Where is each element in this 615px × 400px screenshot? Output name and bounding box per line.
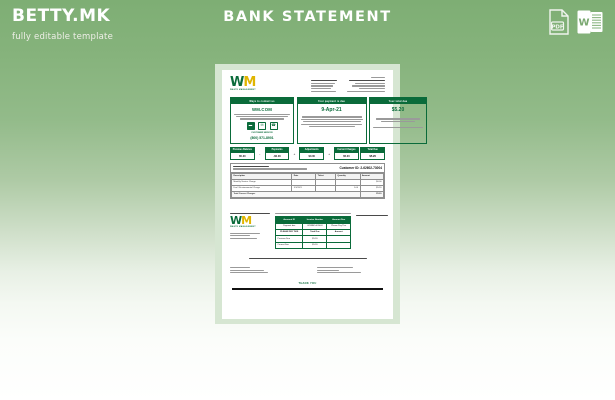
payment-due-box: Your payment is due 9-Apr-21: [297, 97, 367, 143]
summary-operator: -: [256, 147, 263, 160]
stub-header-row: Account ID Invoice Number Amount Due: [276, 216, 351, 223]
address-block-left: [230, 265, 299, 274]
charges-table: Description Date Ticket Quantity Amount …: [231, 173, 384, 198]
meta-row: [311, 88, 385, 89]
document-preview-frame[interactable]: WM WASTE MANAGEMENT Ways to contact us: [215, 64, 400, 324]
invoice-page: WM WASTE MANAGEMENT Ways to contact us: [222, 70, 393, 319]
summary-value: -$0.00: [266, 153, 289, 159]
meta-row: [311, 91, 385, 92]
bottom-rule: [232, 288, 383, 289]
summary-cell-current-charges: Current Charges $5.20: [334, 147, 359, 160]
payment-due-date: 9-Apr-21: [301, 107, 363, 114]
brand-tagline: fully editable template: [12, 32, 113, 42]
summary-cell-adjustments: Adjustments $0.00: [299, 147, 324, 160]
thank-you-text: THANK YOU: [230, 282, 385, 286]
stub-logo-block: WM WASTE MANAGEMENT: [230, 213, 270, 241]
svg-text:PDF: PDF: [551, 24, 563, 30]
address-block-right: [317, 265, 386, 274]
summary-operator: +: [291, 147, 298, 160]
ways-to-contact-box: Ways to contact us WM.COM ▬ ✉ ☎: [230, 97, 294, 143]
wm-logo-subtitle: WASTE MANAGEMENT: [230, 89, 256, 92]
page-title: BANK STATEMENT: [0, 9, 615, 25]
stub-cell: [327, 242, 351, 248]
summary-cell-payments: Payments -$0.00: [265, 147, 290, 160]
summary-cell-total-due: Total Due $5.20: [360, 147, 385, 160]
meta-row: [311, 83, 385, 84]
total-due-box: Your total due $5.20: [369, 97, 427, 143]
info-box-row: Ways to contact us WM.COM ▬ ✉ ☎: [230, 97, 385, 143]
service-details-table: Customer ID: 2-62602-73004 Description D…: [230, 163, 385, 198]
barcode-line: [230, 258, 385, 260]
stub-row: Current Due $5.20: [276, 242, 351, 248]
perforation-note: [275, 213, 351, 214]
total-due-body: $5.20: [370, 104, 426, 142]
wm-logo-m: M: [243, 75, 255, 90]
svg-text:W: W: [578, 18, 589, 29]
summary-value: $5.20: [361, 153, 384, 159]
file-format-group: PDF W: [548, 9, 603, 40]
table-total-row: Total Current Charges $5.20: [232, 191, 384, 197]
summary-value: $5.20: [335, 153, 358, 159]
wm-logo-stub: WM WASTE MANAGEMENT: [230, 216, 256, 228]
stub-col-amount-due: Amount Due: [327, 216, 351, 223]
invoice-header: WM WASTE MANAGEMENT: [230, 77, 385, 93]
details-customer-heading: Customer ID: 2-62602-73004: [339, 166, 382, 170]
stub-cell: $5.20: [303, 242, 327, 248]
balance-summary-row: Previous Balance $5.30 - Payments -$0.00…: [230, 147, 385, 160]
stub-col-invoice: Invoice Number: [303, 216, 327, 223]
remittance-stub: WM WASTE MANAGEMENT: [230, 213, 385, 249]
wm-logo: WM WASTE MANAGEMENT: [230, 77, 256, 91]
summary-value: $5.30: [231, 153, 254, 159]
total-value: $5.20: [360, 191, 384, 197]
summary-operator: +: [326, 147, 333, 160]
service-details-note: Customer ID: 2-62602-73004: [231, 164, 384, 172]
address-block-row: [230, 265, 385, 274]
summary-value: $0.00: [300, 153, 323, 159]
customer-service-label: CUSTOMER SERVICE: [234, 132, 290, 135]
website-link[interactable]: WM.COM: [234, 107, 290, 113]
contact-icon-group: ▬ ✉ ☎: [234, 122, 290, 130]
summary-cell-previous-balance: Previous Balance $5.30: [230, 147, 255, 160]
meta-row: [311, 85, 385, 86]
wm-logo-m: M: [241, 214, 251, 227]
wm-logo-w: W: [230, 75, 243, 90]
total-label: Total Current Charges: [232, 191, 361, 197]
meta-row: [311, 80, 385, 81]
stub-col-account: Account ID: [276, 216, 303, 223]
customer-service-phone: (800) 571-8901: [234, 136, 290, 141]
stub-right-block: [356, 213, 388, 216]
total-due-amount: $5.20: [373, 107, 423, 114]
invoice-meta: [311, 77, 385, 93]
monitor-icon[interactable]: ▬: [247, 122, 255, 130]
pdf-file-icon[interactable]: PDF: [548, 9, 570, 40]
stub-cell: Current Due: [276, 242, 303, 248]
wm-logo-subtitle: WASTE MANAGEMENT: [230, 226, 256, 229]
stub-table-block: Account ID Invoice Number Amount Due Pay…: [275, 213, 351, 249]
screen-root: BETTY.MK fully editable template BANK ST…: [0, 0, 615, 400]
phone-icon[interactable]: ☎: [270, 122, 278, 130]
stub-table: Account ID Invoice Number Amount Due Pay…: [275, 216, 351, 249]
payment-due-body: 9-Apr-21: [298, 104, 366, 142]
wm-logo-w: W: [230, 214, 241, 227]
word-file-icon[interactable]: W: [577, 9, 603, 40]
ways-to-contact-body: WM.COM ▬ ✉ ☎ CUSTOMER SERVICE (800) 5: [231, 104, 293, 142]
envelope-icon[interactable]: ✉: [258, 122, 266, 130]
